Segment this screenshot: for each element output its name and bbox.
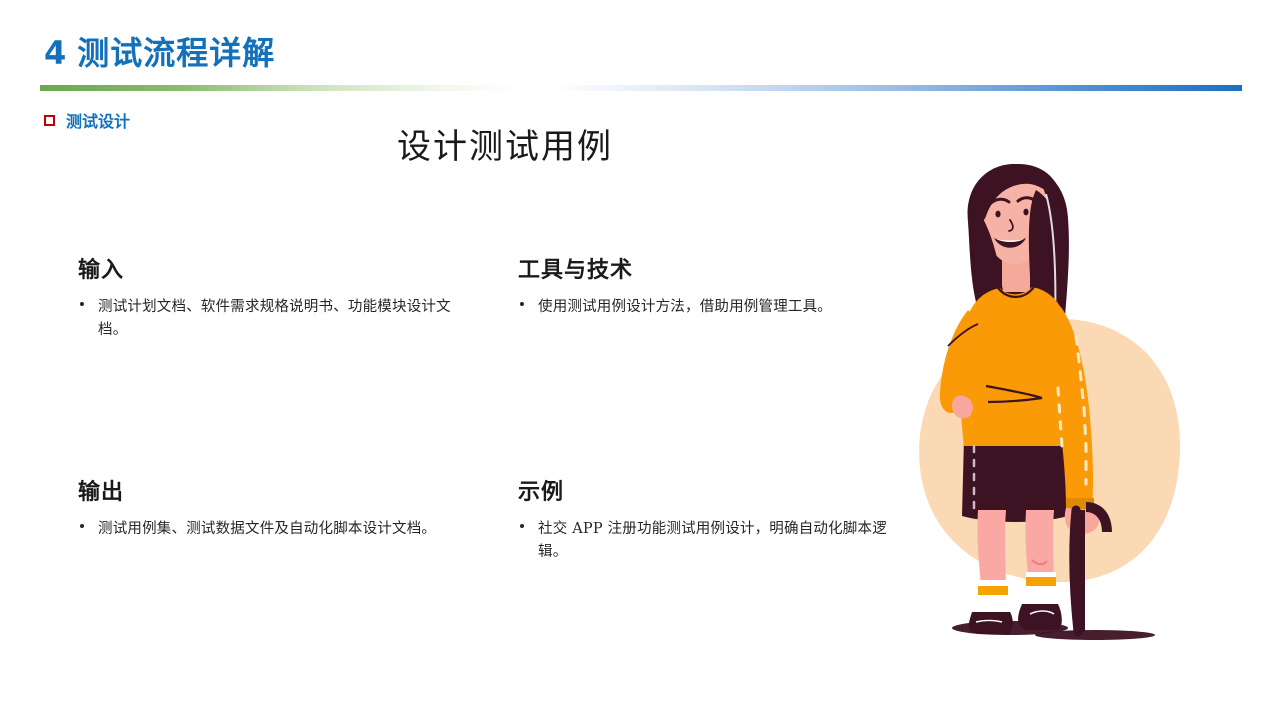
skirt <box>962 438 1068 522</box>
block-heading: 示例 <box>518 480 898 504</box>
block-bullet-list: 测试用例集、测试数据文件及自动化脚本设计文档。 <box>78 518 458 540</box>
list-item-text: 测试用例集、测试数据文件及自动化脚本设计文档。 <box>98 521 436 537</box>
content-block-tools: 工具与技术 使用测试用例设计方法，借助用例管理工具。 <box>518 258 898 319</box>
slide-header: 4测试流程详解 <box>0 0 1280 100</box>
bullet-dot-icon <box>520 524 524 528</box>
list-item: 测试计划文档、软件需求规格说明书、功能模块设计文档。 <box>78 296 458 341</box>
block-bullet-list: 使用测试用例设计方法，借助用例管理工具。 <box>518 296 898 318</box>
eye-right <box>1023 209 1028 216</box>
list-item: 测试用例集、测试数据文件及自动化脚本设计文档。 <box>78 518 458 540</box>
list-item: 使用测试用例设计方法，借助用例管理工具。 <box>518 296 898 318</box>
shoe-right <box>1018 604 1062 630</box>
slide-main-title: 设计测试用例 <box>0 119 1010 168</box>
page-title: 4测试流程详解 <box>44 28 275 74</box>
cane-shaft-curve <box>1074 510 1078 632</box>
bullet-dot-icon <box>520 302 524 306</box>
block-heading: 工具与技术 <box>518 258 898 282</box>
block-bullet-list: 测试计划文档、软件需求规格说明书、功能模块设计文档。 <box>78 296 458 341</box>
block-bullet-list: 社交 APP 注册功能测试用例设计，明确自动化脚本逻辑。 <box>518 518 898 563</box>
standing-woman-with-backpack-and-cane-illustration <box>890 150 1200 670</box>
shoe-left <box>969 612 1013 634</box>
content-block-example: 示例 社交 APP 注册功能测试用例设计，明确自动化脚本逻辑。 <box>518 480 898 563</box>
sock-stripe-right <box>1026 577 1056 586</box>
block-heading: 输出 <box>78 480 458 504</box>
ground-shadow-cane <box>1035 630 1155 640</box>
content-block-input: 输入 测试计划文档、软件需求规格说明书、功能模块设计文档。 <box>78 258 458 341</box>
section-number: 4 <box>44 34 67 72</box>
content-block-output: 输出 测试用例集、测试数据文件及自动化脚本设计文档。 <box>78 480 458 541</box>
block-heading: 输入 <box>78 258 458 282</box>
content-grid: 输入 测试计划文档、软件需求规格说明书、功能模块设计文档。 工具与技术 使用测试… <box>0 258 900 618</box>
sock-stripe-left <box>978 586 1008 595</box>
list-item-text: 测试计划文档、软件需求规格说明书、功能模块设计文档。 <box>98 299 451 337</box>
list-item-text: 使用测试用例设计方法，借助用例管理工具。 <box>538 299 832 315</box>
eye-left <box>995 211 1000 218</box>
section-title-text: 测试流程详解 <box>77 34 275 72</box>
list-item: 社交 APP 注册功能测试用例设计，明确自动化脚本逻辑。 <box>518 518 898 563</box>
bullet-dot-icon <box>80 302 84 306</box>
header-gradient-divider <box>40 85 1242 91</box>
list-item-text: 社交 APP 注册功能测试用例设计，明确自动化脚本逻辑。 <box>538 521 887 559</box>
bullet-dot-icon <box>80 524 84 528</box>
